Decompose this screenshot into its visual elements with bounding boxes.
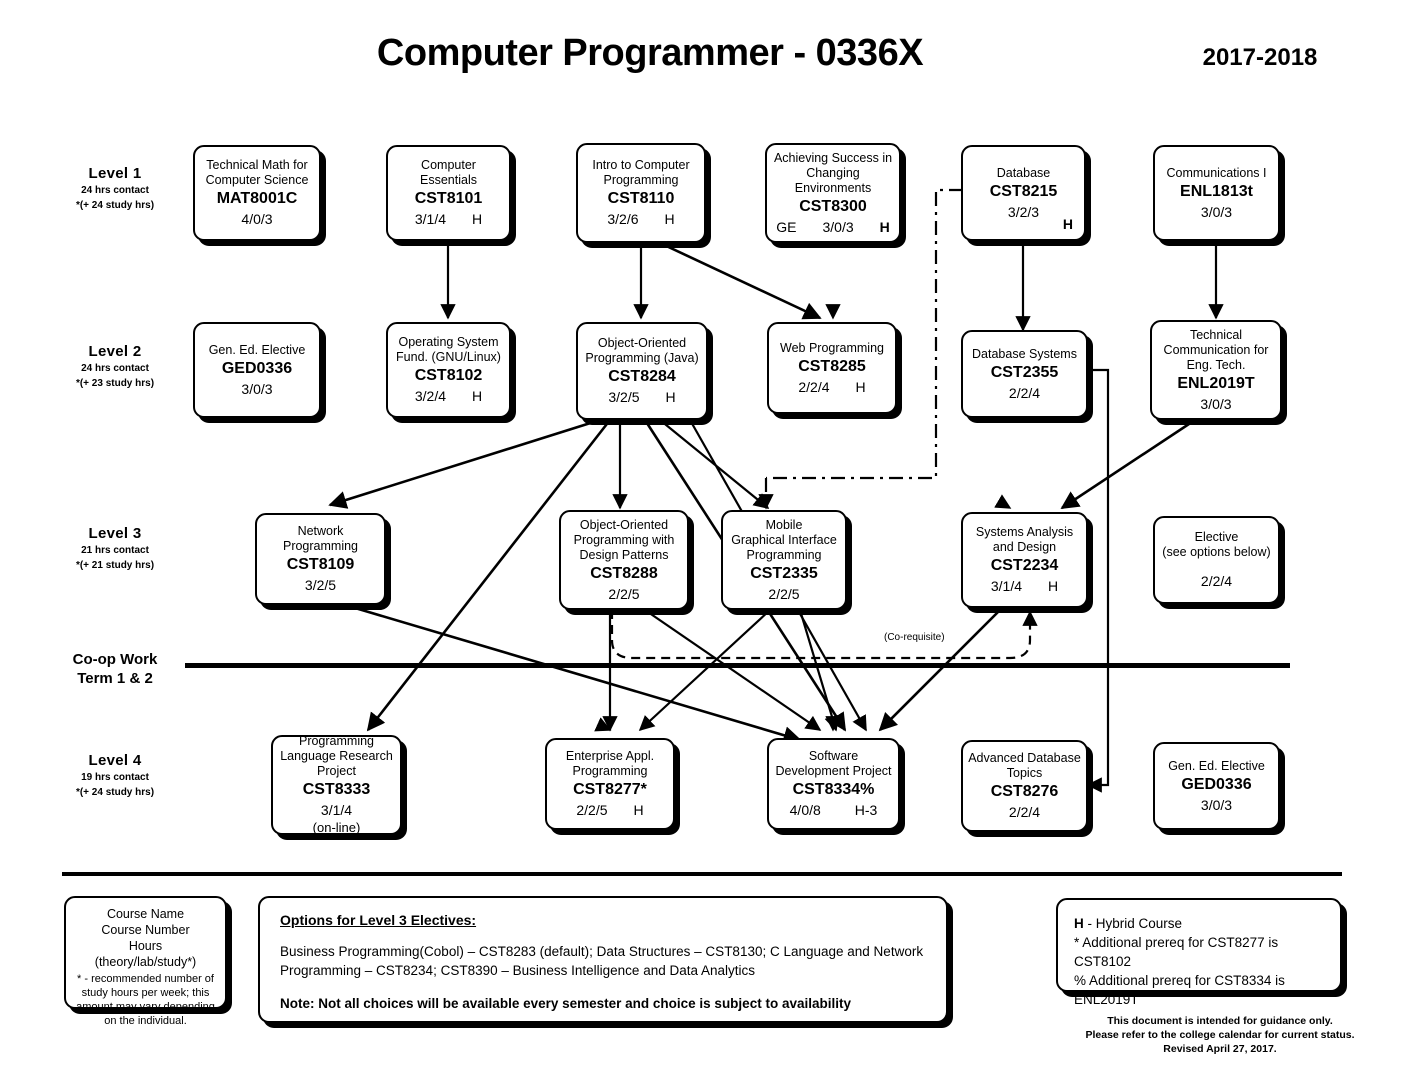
hybrid-badge: H <box>472 211 482 227</box>
course-box-cst8333[interactable]: Programming Language Research Project CS… <box>271 735 402 835</box>
course-hours: 3/2/3 <box>1008 203 1039 221</box>
course-name-line: Communication for <box>1164 343 1269 358</box>
course-name-line: Eng. Tech. <box>1187 358 1246 373</box>
hybrid-badge: H <box>472 388 482 404</box>
course-hours: 2/2/4 <box>1009 384 1040 402</box>
course-name-line: Communications I <box>1166 166 1266 181</box>
course-extra: (on-line) <box>313 819 361 836</box>
course-box-cst2355[interactable]: Database Systems CST2355 2/2/4 <box>961 330 1088 418</box>
course-code: CST8284 <box>608 367 676 387</box>
course-name-line: Changing <box>806 166 860 181</box>
course-box-cst8101[interactable]: Computer Essentials CST8101 3/1/4H <box>386 145 511 241</box>
course-name-line: Programming with <box>574 533 675 548</box>
course-code: CST2355 <box>991 363 1059 383</box>
flowchart-canvas: Computer Programmer - 0336X 2017-2018 <box>0 0 1408 1088</box>
course-hours: 3/1/4 <box>415 210 446 228</box>
course-name-line: Network Programming <box>262 524 379 554</box>
course-hours: 2/2/5 <box>576 801 607 819</box>
hybrid-badge: H <box>665 211 675 227</box>
course-name-line: Web Programming <box>780 341 884 356</box>
course-name-line: Programming <box>299 734 374 749</box>
course-name-line: Topics <box>1007 766 1042 781</box>
course-hours: 2/2/5 <box>768 585 799 603</box>
legend-key-note: * - recommended number of study hours pe… <box>72 972 219 1028</box>
course-name-line: Software <box>809 749 858 764</box>
course-name-line: (see options below) <box>1162 545 1270 560</box>
legend-electives-note: Note: Not all choices will be available … <box>280 996 926 1011</box>
course-hours: 2/2/4 <box>798 378 829 396</box>
level-label-3: Level 3 21 hrs contact *(+ 21 study hrs) <box>30 525 200 572</box>
level-2-contact: 24 hrs contact <box>30 362 200 375</box>
legend-key-line-3: Hours <box>72 938 219 954</box>
link-spare3 <box>420 505 560 640</box>
coop-line-1: Co-op Work <box>20 650 210 669</box>
course-hours: 2/2/4 <box>1009 803 1040 821</box>
course-hours: 3/2/6 <box>607 210 638 228</box>
course-hours: 3/0/3 <box>1201 796 1232 814</box>
link-cst2335-cst8334 <box>800 610 836 730</box>
course-name-line: Environments <box>795 181 871 196</box>
course-hours: 3/2/4 <box>415 387 446 405</box>
course-name-line: Intro to Computer <box>592 158 689 173</box>
course-box-cst8102[interactable]: Operating System Fund. (GNU/Linux) CST81… <box>386 322 511 418</box>
legend-notes-box: H - Hybrid Course * Additional prereq fo… <box>1056 898 1342 992</box>
course-name-line: Mobile <box>766 518 803 533</box>
course-name-line: Design Patterns <box>580 548 669 563</box>
course-box-cst2335[interactable]: Mobile Graphical Interface Programming C… <box>721 510 847 610</box>
level-2-name: Level 2 <box>30 343 200 360</box>
course-box-cst8334[interactable]: Software Development Project CST8334% 4/… <box>767 738 900 830</box>
hybrid-badge: H <box>880 219 890 235</box>
course-name-line: Object-Oriented <box>598 336 686 351</box>
hybrid-badge: H <box>1048 578 1058 594</box>
course-name-line: Operating System <box>398 335 498 350</box>
course-box-enl2019t[interactable]: Technical Communication for Eng. Tech. E… <box>1150 320 1282 420</box>
course-code: MAT8001C <box>217 189 298 209</box>
level-label-2: Level 2 24 hrs contact *(+ 23 study hrs) <box>30 343 200 390</box>
course-code: CST8109 <box>287 555 355 575</box>
link-cst8109-cst8334 <box>345 605 800 740</box>
ge-prefix: GE <box>776 219 796 235</box>
course-box-cst8215[interactable]: Database CST8215 3/2/3 H <box>961 145 1086 241</box>
course-box-ged0336-l4[interactable]: Gen. Ed. Elective GED0336 3/0/3 <box>1153 742 1280 830</box>
course-code: CST8102 <box>415 366 483 386</box>
course-box-cst8109[interactable]: Network Programming CST8109 3/2/5 <box>255 513 386 605</box>
footer-line-1: This document is intended for guidance o… <box>1040 1014 1400 1028</box>
legend-electives-box: Options for Level 3 Electives: Business … <box>258 896 948 1023</box>
course-box-cst8277[interactable]: Enterprise Appl. Programming CST8277* 2/… <box>545 738 675 830</box>
course-name-line: Advanced Database <box>968 751 1081 766</box>
course-name-line: Language Research <box>280 749 393 764</box>
level-4-contact: 19 hrs contact <box>30 771 200 784</box>
course-hours: 3/2/5 <box>305 576 336 594</box>
course-name-line: Elective <box>1195 530 1239 545</box>
course-hours: 2/2/5 <box>608 585 639 603</box>
coop-rule <box>185 663 1290 668</box>
course-hours: 3/0/3 <box>1200 395 1231 413</box>
link-cst8284-cst8109 <box>330 420 600 505</box>
link-spare <box>860 420 1010 508</box>
legend-note-line-1: H - Hybrid Course <box>1074 914 1324 933</box>
course-code: CST8101 <box>415 189 483 209</box>
legend-key-line-4: (theory/lab/study*) <box>72 954 219 970</box>
course-code: CST8334% <box>793 780 875 800</box>
link-cst8288-cst8334 <box>645 610 820 730</box>
footer-disclaimer: This document is intended for guidance o… <box>1040 1014 1400 1056</box>
course-name-line: Programming <box>572 764 647 779</box>
level-3-study: *(+ 21 study hrs) <box>30 559 200 572</box>
course-box-cst2234[interactable]: Systems Analysis and Design CST2234 3/1/… <box>961 512 1088 608</box>
course-box-enl1813t[interactable]: Communications I ENL1813t 3/0/3 <box>1153 145 1280 241</box>
course-code: CST8110 <box>608 189 675 209</box>
course-name-line: Gen. Ed. Elective <box>209 343 306 358</box>
coop-line-2: Term 1 & 2 <box>20 669 210 688</box>
legend-key-box: Course Name Course Number Hours (theory/… <box>64 896 227 1009</box>
level-3-name: Level 3 <box>30 525 200 542</box>
course-hours: 3/2/5 <box>608 388 639 406</box>
course-name-line: Development Project <box>775 764 891 779</box>
course-name-line: Systems Analysis <box>976 525 1073 540</box>
course-name-line: Graphical Interface <box>731 533 837 548</box>
course-code: CST2335 <box>750 564 818 584</box>
coreq-label: (Co-requisite) <box>884 632 945 643</box>
legend-electives-heading: Options for Level 3 Electives: <box>280 912 926 928</box>
course-box-cst8300[interactable]: Achieving Success in Changing Environmen… <box>765 143 901 243</box>
course-code: GED0336 <box>1181 775 1251 795</box>
course-name-line: Gen. Ed. Elective <box>1168 759 1265 774</box>
hybrid-badge: H-3 <box>855 802 878 818</box>
course-box-elective-l3[interactable]: Elective (see options below) 2/2/4 <box>1153 516 1280 604</box>
course-code: GED0336 <box>222 359 292 379</box>
hybrid-badge: H <box>856 379 866 395</box>
link-coreq-loop <box>612 610 1030 658</box>
level-4-name: Level 4 <box>30 752 200 769</box>
footer-line-3: Revised April 27, 2017. <box>1040 1042 1400 1056</box>
course-code: CST8288 <box>590 564 658 584</box>
course-name-line: Computer Science <box>206 173 309 188</box>
course-hours: 4/0/8 <box>790 801 821 819</box>
legend-key-line-1: Course Name <box>72 906 219 922</box>
course-code: CST8277* <box>573 780 647 800</box>
course-name-line: Object-Oriented <box>580 518 668 533</box>
level-4-study: *(+ 24 study hrs) <box>30 786 200 799</box>
course-hours: 3/1/4 <box>991 577 1022 595</box>
link-enl2019t-cst2234 <box>1062 420 1195 508</box>
course-name-line: Project <box>317 764 356 779</box>
course-name-line: Achieving Success in <box>774 151 892 166</box>
course-name-line: Fund. (GNU/Linux) <box>396 350 501 365</box>
course-code: CST8300 <box>799 197 867 217</box>
course-name-line: Programming <box>603 173 678 188</box>
course-hours: 4/0/3 <box>241 210 272 228</box>
course-box-cst8284[interactable]: Object-Oriented Programming (Java) CST82… <box>576 322 708 420</box>
course-name-line: Programming <box>746 548 821 563</box>
course-code: ENL1813t <box>1180 182 1253 202</box>
level-2-study: *(+ 23 study hrs) <box>30 377 200 390</box>
link-cst2355-cst8276 <box>1088 370 1108 785</box>
course-name-line: Database <box>997 166 1051 181</box>
course-box-cst8285[interactable]: Web Programming CST8285 2/2/4H <box>767 322 897 414</box>
footer-line-2: Please refer to the college calendar for… <box>1040 1028 1400 1042</box>
course-hours: 2/2/4 <box>1201 572 1232 590</box>
course-code: ENL2019T <box>1177 374 1254 394</box>
course-box-cst8288[interactable]: Object-Oriented Programming with Design … <box>559 510 689 610</box>
level-1-name: Level 1 <box>30 165 200 182</box>
academic-years: 2017-2018 <box>1150 44 1370 72</box>
hybrid-badge: H <box>1063 216 1073 232</box>
link-cst2234-cst8334 <box>880 610 1000 730</box>
level-3-contact: 21 hrs contact <box>30 544 200 557</box>
course-code: CST8276 <box>991 782 1059 802</box>
course-name-line: Programming (Java) <box>585 351 698 366</box>
course-hours: 3/1/4 <box>321 801 352 819</box>
course-name-line: Database Systems <box>972 347 1077 362</box>
level-1-contact: 24 hrs contact <box>30 184 200 197</box>
course-code: CST2234 <box>991 556 1059 576</box>
course-code: CST8285 <box>798 357 866 377</box>
level-label-1: Level 1 24 hrs contact *(+ 24 study hrs) <box>30 165 200 212</box>
course-name-line: Technical <box>1190 328 1242 343</box>
legend-note-line-2: * Additional prereq for CST8277 is CST81… <box>1074 933 1324 971</box>
course-code: CST8215 <box>990 182 1058 202</box>
hybrid-badge: H <box>666 389 676 405</box>
course-hours: 3/0/3 <box>241 380 272 398</box>
legend-key-line-2: Course Number <box>72 922 219 938</box>
course-box-ged0336-l2[interactable]: Gen. Ed. Elective GED0336 3/0/3 <box>193 322 321 418</box>
link-cst8284-cst2335 <box>660 420 768 508</box>
course-name-line: and Design <box>993 540 1056 555</box>
course-hours: 3/0/3 <box>822 218 853 236</box>
link-cst2335-cst8277 <box>640 610 770 730</box>
legend-electives-body-1: Business Programming(Cobol) – CST8283 (d… <box>280 942 926 961</box>
bottom-rule <box>62 872 1342 876</box>
legend-electives-body-2: Programming – CST8234; CST8390 – Busines… <box>280 961 926 980</box>
page-title: Computer Programmer - 0336X <box>280 32 1020 75</box>
level-1-study: *(+ 24 study hrs) <box>30 199 200 212</box>
course-box-cst8110[interactable]: Intro to Computer Programming CST8110 3/… <box>576 143 706 243</box>
course-name-line: Enterprise Appl. <box>566 749 654 764</box>
course-name-line: Technical Math for <box>206 158 307 173</box>
hybrid-badge: H <box>634 802 644 818</box>
hybrid-key-letter: H <box>1074 916 1084 931</box>
link-cst8110-cst8285 <box>660 243 820 318</box>
hybrid-key-text: - Hybrid Course <box>1084 916 1182 931</box>
legend-note-line-3: % Additional prereq for CST8334 is ENL20… <box>1074 971 1324 1009</box>
course-name-line: Computer Essentials <box>393 158 504 188</box>
level-label-4: Level 4 19 hrs contact *(+ 24 study hrs) <box>30 752 200 799</box>
course-box-mat8001c[interactable]: Technical Math for Computer Science MAT8… <box>193 145 321 241</box>
course-code: CST8333 <box>303 780 371 800</box>
coop-label: Co-op Work Term 1 & 2 <box>20 650 210 688</box>
course-box-cst8276[interactable]: Advanced Database Topics CST8276 2/2/4 <box>961 740 1088 832</box>
course-hours: 3/0/3 <box>1201 203 1232 221</box>
